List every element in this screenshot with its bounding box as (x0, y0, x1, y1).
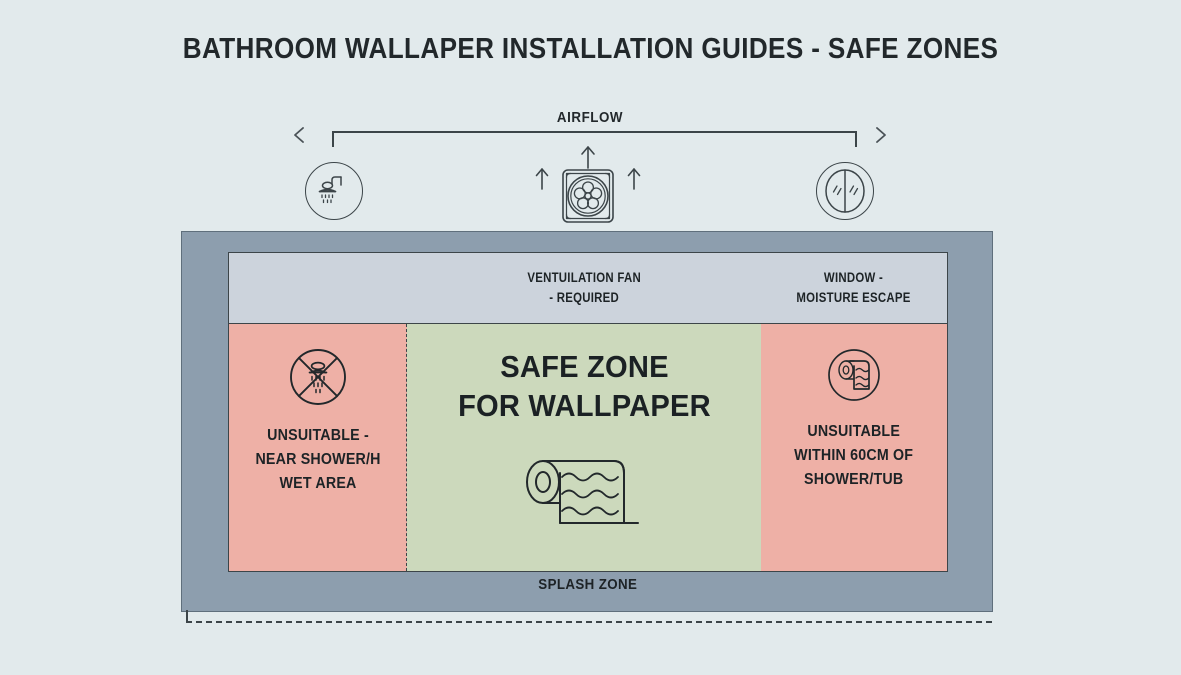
zone-left-unsuitable: UNSUITABLE - NEAR SHOWER/H WET AREA (229, 324, 407, 571)
zone-right-text: UNSUITABLE WITHIN 60CM OF SHOWER/TUB (783, 420, 924, 492)
arrow-up-icon (582, 147, 594, 168)
zone-right-line3: SHOWER/TUB (794, 468, 913, 492)
no-shower-icon (285, 344, 351, 410)
bathroom-wall-frame: VENTUILATION FAN - REQUIRED WINDOW - MOI… (181, 231, 993, 612)
window-icon (816, 162, 874, 220)
zone-header-band: VENTUILATION FAN - REQUIRED WINDOW - MOI… (229, 253, 947, 324)
zone-right-unsuitable: UNSUITABLE WITHIN 60CM OF SHOWER/TUB (761, 324, 947, 571)
arrow-up-icon (537, 169, 548, 189)
splash-zone-label: SPLASH ZONE (182, 577, 994, 593)
zone-grid: VENTUILATION FAN - REQUIRED WINDOW - MOI… (228, 252, 948, 572)
header-window-line2: MOISTURE ESCAPE (797, 288, 911, 308)
header-cell-left (229, 253, 407, 323)
shower-head-icon (305, 162, 363, 220)
chevron-left-icon (292, 126, 306, 144)
wallpaper-roll-circle-icon (823, 344, 885, 406)
header-ventilation-line2: - REQUIRED (527, 288, 641, 308)
floor-dashed-line (186, 621, 992, 623)
header-window-line1: WINDOW - (797, 268, 911, 288)
wallpaper-roll-icon (520, 441, 648, 533)
safe-zone-title-line1: SAFE ZONE (458, 347, 711, 386)
zone-body-row: UNSUITABLE - NEAR SHOWER/H WET AREA SAFE… (229, 324, 947, 571)
zone-right-line1: UNSUITABLE (794, 420, 913, 444)
header-cell-window: WINDOW - MOISTURE ESCAPE (761, 253, 947, 323)
page-title: BATHROOM WALLAPER INSTALLATION GUIDES - … (59, 33, 1122, 66)
zone-left-line3: WET AREA (255, 472, 380, 496)
infographic-canvas: BATHROOM WALLAPER INSTALLATION GUIDES - … (0, 0, 1181, 675)
zone-left-line2: NEAR SHOWER/H (255, 448, 380, 472)
chevron-right-icon (874, 126, 888, 144)
safe-zone-title: SAFE ZONE FOR WALLPAPER (450, 347, 719, 425)
zone-center-safe: SAFE ZONE FOR WALLPAPER (407, 324, 761, 571)
header-ventilation-line1: VENTUILATION FAN (527, 268, 641, 288)
ventilation-fan-icon (524, 143, 652, 225)
arrow-up-icon (629, 169, 640, 189)
zone-left-line1: UNSUITABLE - (255, 424, 380, 448)
zone-divider-left (406, 324, 407, 571)
zone-right-line2: WITHIN 60CM OF (794, 444, 913, 468)
safe-zone-title-line2: FOR WALLPAPER (458, 386, 711, 425)
header-cell-ventilation: VENTUILATION FAN - REQUIRED (407, 253, 761, 323)
zone-left-text: UNSUITABLE - NEAR SHOWER/H WET AREA (244, 424, 392, 496)
airflow-label: AIRFLOW (443, 110, 737, 126)
